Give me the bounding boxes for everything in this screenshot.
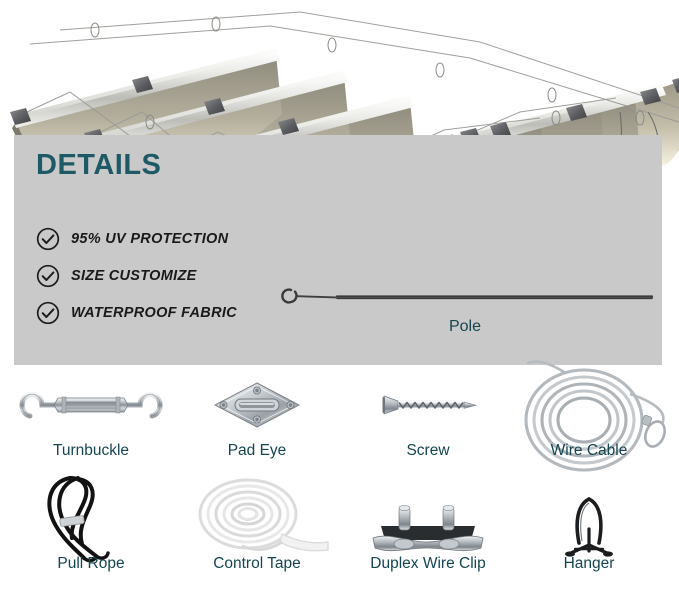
pad-eye-icon bbox=[168, 372, 346, 438]
screw-icon bbox=[344, 372, 512, 438]
feature-label: 95% UV PROTECTION bbox=[71, 231, 228, 247]
duplex-wire-clip-icon bbox=[344, 485, 512, 551]
accessory-label: Pad Eye bbox=[168, 442, 346, 460]
accessory-item-hanger: Hanger bbox=[500, 485, 678, 573]
details-panel: DETAILS 95% UV PROTECTION SIZE CUSTOMIZE bbox=[14, 135, 662, 365]
pole-figure: Pole bbox=[270, 278, 660, 350]
check-circle-icon bbox=[36, 301, 60, 325]
control-tape-icon bbox=[168, 485, 346, 551]
accessory-label: Hanger bbox=[500, 555, 678, 573]
pole-label: Pole bbox=[270, 318, 660, 336]
accessory-item-pad-eye: Pad Eye bbox=[168, 372, 346, 460]
accessory-item-pull-rope: Pull Rope bbox=[0, 485, 182, 573]
page-title: DETAILS bbox=[36, 149, 161, 182]
accessory-item-control-tape: Control Tape bbox=[168, 485, 346, 573]
accessory-item-duplex-wire-clip: Duplex Wire Clip bbox=[344, 485, 512, 573]
check-circle-icon bbox=[36, 264, 60, 288]
accessories-grid: Turnbuckle bbox=[0, 372, 679, 611]
hanger-icon bbox=[500, 485, 678, 551]
accessory-label: Screw bbox=[344, 442, 512, 460]
accessory-item-screw: Screw bbox=[344, 372, 512, 460]
accessory-item-turnbuckle: Turnbuckle bbox=[0, 372, 182, 460]
feature-item-uv-protection: 95% UV PROTECTION bbox=[36, 223, 366, 255]
accessory-item-wire-cable: Wire Cable bbox=[500, 372, 678, 460]
pull-rope-icon bbox=[0, 485, 182, 551]
feature-label: WATERPROOF FABRIC bbox=[71, 305, 237, 321]
pole-rod-icon bbox=[270, 278, 660, 312]
check-circle-icon bbox=[36, 227, 60, 251]
wire-cable-icon bbox=[500, 372, 678, 438]
feature-label: SIZE CUSTOMIZE bbox=[71, 268, 197, 284]
turnbuckle-icon bbox=[0, 372, 182, 438]
accessory-label: Turnbuckle bbox=[0, 442, 182, 460]
